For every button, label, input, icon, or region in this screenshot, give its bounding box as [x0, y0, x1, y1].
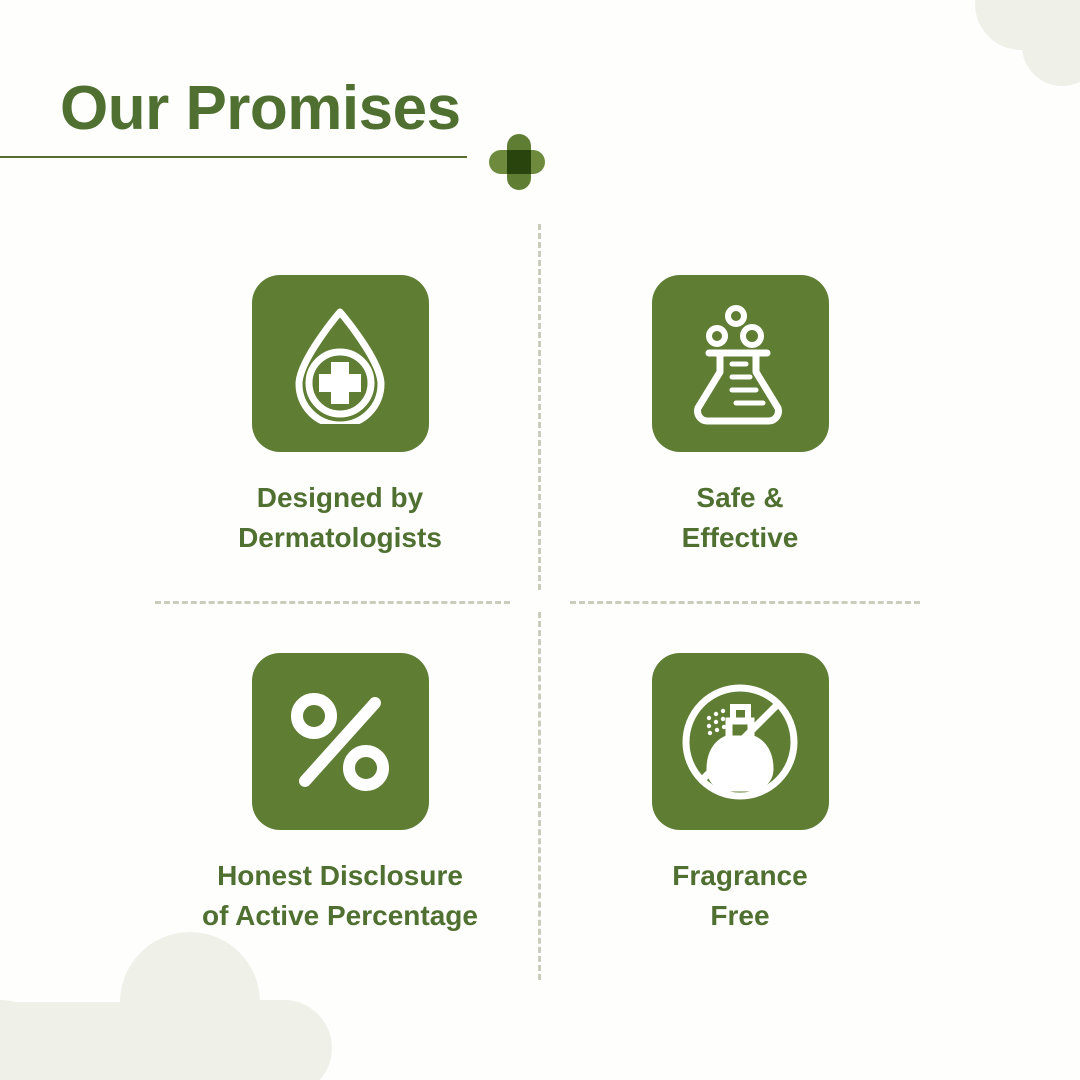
- promise-card-safe-and-effective[interactable]: Safe & Effective: [530, 275, 950, 558]
- promise-icon-tile: [252, 653, 429, 830]
- header: Our Promises: [0, 72, 560, 172]
- lab-flask-icon: [684, 302, 796, 426]
- promise-card-honest-disclosure[interactable]: Honest Disclosure of Active Percentage: [130, 653, 550, 936]
- promise-icon-tile: [652, 275, 829, 452]
- page-title: Our Promises: [60, 72, 461, 146]
- promise-card-designed-by-dermatologists[interactable]: Designed by Dermatologists: [130, 275, 550, 558]
- percent-icon: [287, 689, 393, 795]
- promises-infographic: Our Promises Designed by Derm: [0, 0, 1080, 1080]
- promise-icon-tile: [252, 275, 429, 452]
- promise-label: Honest Disclosure of Active Percentage: [130, 856, 550, 936]
- cloud-fill: [1021, 0, 1080, 48]
- promise-label: Designed by Dermatologists: [130, 478, 550, 558]
- promise-label: Fragrance Free: [530, 856, 950, 936]
- promise-label: Safe & Effective: [530, 478, 950, 558]
- droplet-plus-icon: [285, 304, 395, 424]
- title-underline: [0, 156, 467, 158]
- promise-icon-tile: [652, 653, 829, 830]
- promise-grid: Designed by Dermatologists: [0, 255, 1080, 975]
- plus-cross-icon: [489, 134, 545, 190]
- cross-horizontal-bar: [489, 150, 545, 174]
- promise-card-fragrance-free[interactable]: Fragrance Free: [530, 653, 950, 936]
- cloud-fill: [120, 1000, 288, 1080]
- no-fragrance-icon: [679, 681, 801, 803]
